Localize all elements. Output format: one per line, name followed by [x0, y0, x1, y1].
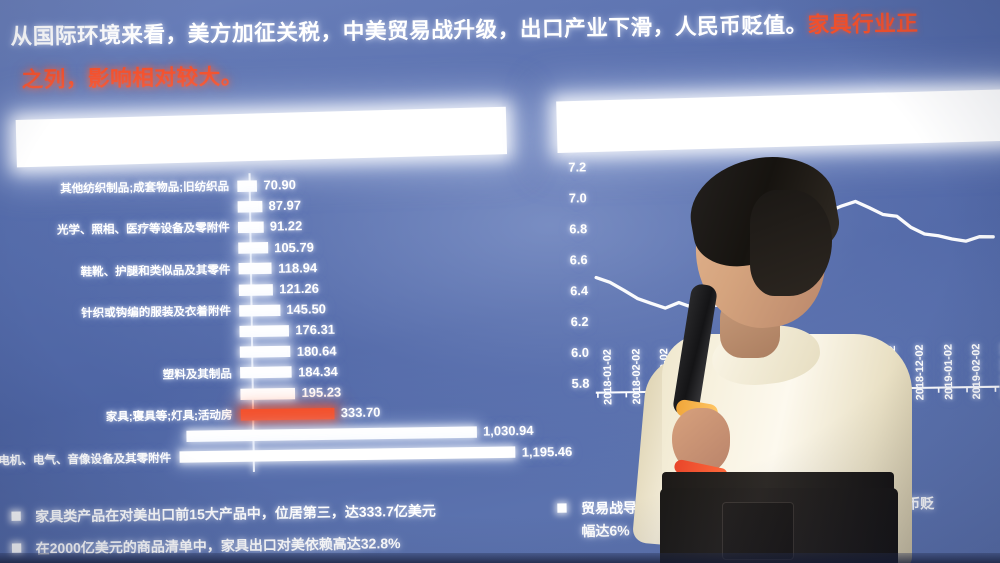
y-axis-tick-label: 5.8	[554, 376, 589, 391]
bar-category-label	[0, 207, 238, 211]
bar	[239, 304, 280, 316]
y-axis-tick-label: 7.0	[552, 191, 587, 206]
bar	[238, 242, 268, 254]
bar-value-label: 176.31	[295, 323, 335, 338]
bar-category-label: 家具;寝具等;灯具;活动房	[0, 406, 241, 426]
y-axis-tick-label: 6.0	[554, 345, 589, 360]
bullet-text: 家具类产品在对美出口前15大产品中，位居第三，达333.7亿美元	[35, 500, 436, 529]
y-axis-tick-label: 7.2	[551, 160, 586, 175]
projection-screen: 从国际环境来看，美方加征关税，中美贸易战升级，出口产业下滑，人民币贬值。家具行业…	[0, 0, 1000, 563]
bullet-square-icon	[11, 511, 20, 520]
bar-highlighted	[241, 408, 335, 421]
bar	[187, 426, 477, 442]
header-line-2: 之列，影响相对较大。	[21, 60, 243, 94]
y-axis-tick-label: 6.4	[553, 284, 588, 299]
bar-category-label: 光学、照相、医疗等设备及零附件	[0, 219, 238, 239]
bar-value-label: 333.70	[341, 405, 381, 420]
bar	[239, 284, 273, 296]
bar-value-label: 1,030.94	[483, 424, 534, 439]
bar-value-label: 145.50	[286, 302, 326, 317]
slide-header: 从国际环境来看，美方加征关税，中美贸易战升级，出口产业下滑，人民币贬值。家具行业…	[0, 0, 1000, 91]
header-line-1: 从国际环境来看，美方加征关税，中美贸易战升级，出口产业下滑，人民币贬值。家具行业…	[10, 7, 918, 51]
stage-floor-strip	[0, 553, 1000, 563]
bar	[237, 180, 257, 192]
bar	[179, 447, 515, 463]
bar-track: 1,195.46	[179, 441, 572, 467]
header-line-1-red: 家具行业正	[808, 12, 919, 37]
bar-value-label: 118.94	[278, 261, 317, 276]
bar	[238, 201, 263, 213]
bar-chart: 其他纺织制品;成套物品;旧纺织品70.9087.97光学、照相、医疗等设备及零附…	[0, 169, 534, 486]
right-chart-title-plate	[556, 89, 1000, 153]
bar-category-label: 鞋靴、护腿和类似品及其零件	[0, 261, 239, 281]
bar-category-label	[0, 436, 187, 439]
bar	[238, 221, 264, 233]
bar-value-label: 87.97	[268, 198, 301, 213]
bar	[238, 263, 272, 275]
bar-value-label: 91.22	[270, 219, 303, 234]
bar	[239, 325, 289, 337]
bar-category-label	[0, 352, 240, 356]
bar-category-label: 针织或钩编的服装及衣着附件	[0, 302, 239, 322]
bar-value-label: 180.64	[297, 344, 337, 359]
bar	[240, 387, 295, 399]
bullet-square-icon	[557, 503, 566, 512]
bar-category-label: 塑料及其制品	[0, 365, 240, 385]
y-axis-tick-label: 6.8	[552, 222, 587, 237]
left-chart-panel: 其他纺织制品;成套物品;旧纺织品70.9087.97光学、照相、医疗等设备及零附…	[0, 95, 535, 515]
bar-category-label: 其他纺织制品;成套物品;旧纺织品	[0, 178, 237, 198]
bar-category-label	[0, 394, 240, 398]
y-axis-tick-label: 6.6	[553, 253, 588, 268]
bar-value-label: 184.34	[298, 364, 338, 379]
bar	[240, 346, 291, 358]
header-line-1-white: 从国际环境来看，美方加征关税，中美贸易战升级，出口产业下滑，人民币贬值。	[10, 14, 807, 50]
bar-category-label: 电机、电气、音像设备及其零附件	[0, 449, 180, 468]
bar-value-label: 105.79	[274, 240, 314, 255]
bar-value-label: 195.23	[301, 385, 341, 400]
speaker-trouser-pocket	[722, 502, 794, 560]
bar	[240, 367, 292, 379]
left-chart-title-plate	[16, 107, 507, 168]
bar-category-label	[0, 290, 239, 294]
bar-value-label: 121.26	[279, 281, 319, 296]
bullet-square-icon	[12, 544, 21, 553]
bar-value-label: 70.90	[263, 178, 296, 193]
speaker-person	[600, 150, 1000, 563]
y-axis-tick-label: 6.2	[553, 315, 588, 330]
bar-category-label	[0, 331, 240, 335]
bar-category-label	[0, 248, 238, 252]
